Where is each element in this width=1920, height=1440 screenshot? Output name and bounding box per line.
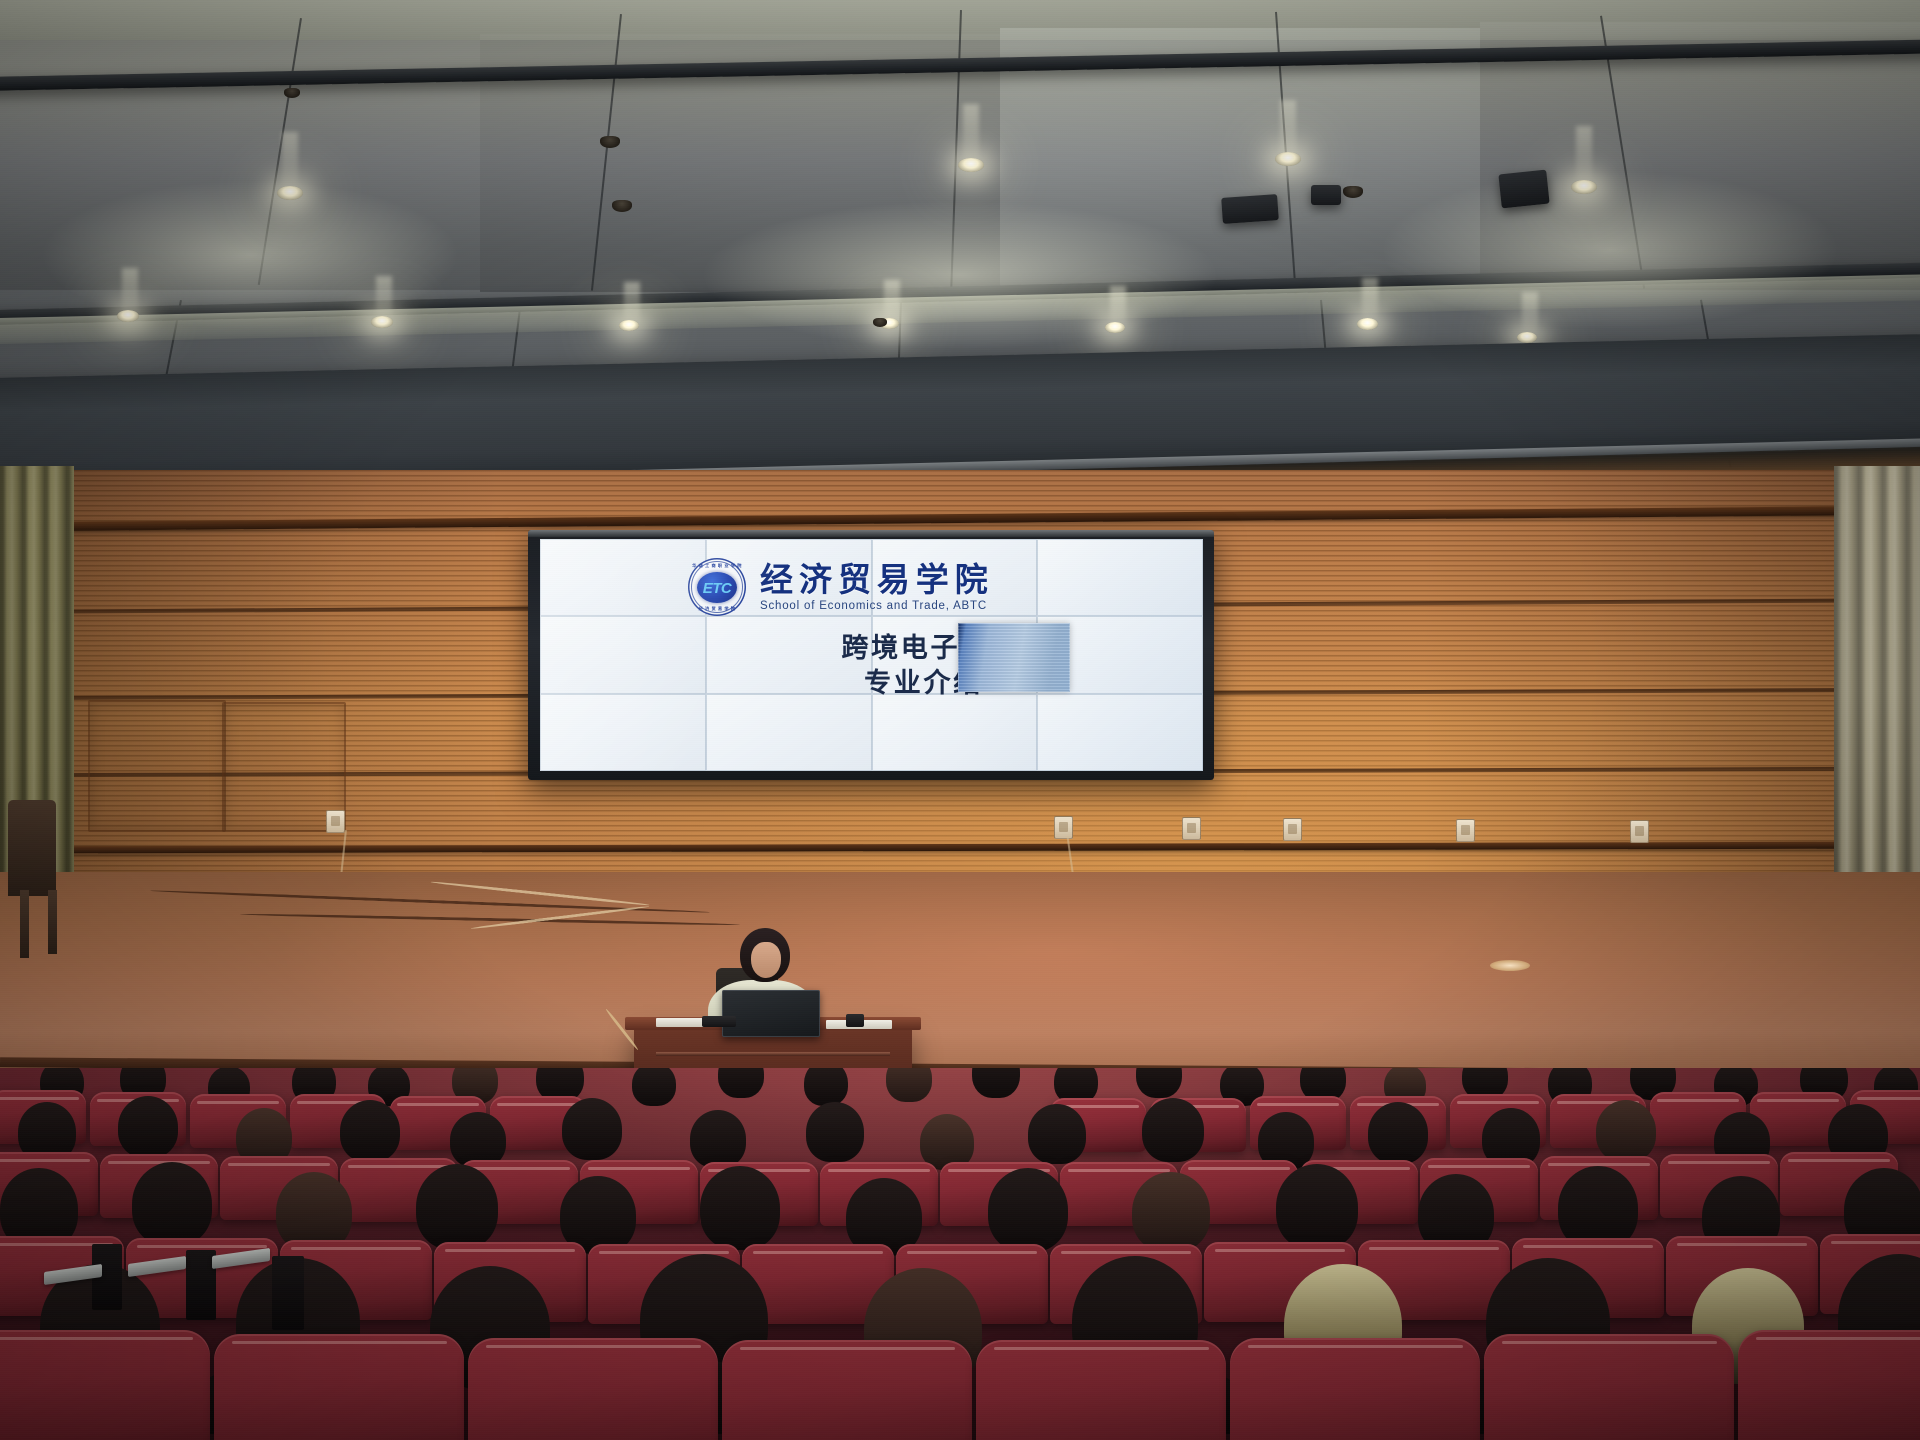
wall-outlet-icon: [1182, 817, 1201, 840]
sprinkler-head-icon: [612, 200, 632, 212]
video-wall-screen: 华 商 工 商 职 业 学 院 经 济 贸 易 学 院 ETC 经济贸易学院 S…: [528, 530, 1214, 780]
ceiling-downlight-icon: [1517, 332, 1537, 343]
audience-head: [886, 1068, 932, 1102]
audience-head: [690, 1110, 746, 1168]
ceiling-downlight-icon: [1357, 318, 1378, 330]
audience-head: [804, 1068, 848, 1106]
audience-head: [806, 1102, 864, 1162]
ceiling-downlight-icon: [117, 310, 139, 322]
auditorium-seat-foreground: [1230, 1338, 1480, 1440]
audience-head: [132, 1162, 212, 1246]
wall-outlet-icon: [1054, 816, 1073, 839]
ceiling-downlight-icon: [371, 316, 393, 328]
stage-side-chair-leg: [20, 890, 29, 958]
seat-armrest: [272, 1256, 304, 1330]
audience-head: [416, 1164, 498, 1250]
sprinkler-head-icon: [1343, 186, 1363, 198]
screen-top-bezel: [528, 530, 1214, 537]
lectern-paper: [656, 1018, 708, 1027]
audience-head: [700, 1166, 780, 1250]
audience-head: [632, 1068, 676, 1106]
ceiling-speaker-icon: [1311, 185, 1341, 205]
ceiling-speaker-icon: [1498, 170, 1549, 209]
ceiling-downlight-icon: [619, 320, 639, 331]
audience-head: [1596, 1100, 1656, 1162]
audience-head: [1368, 1102, 1428, 1164]
audience-seating: [0, 1068, 1920, 1440]
audience-head: [1132, 1172, 1210, 1252]
sprinkler-head-icon: [284, 88, 300, 98]
auditorium-photo: 华 商 工 商 职 业 学 院 经 济 贸 易 学 院 ETC 经济贸易学院 S…: [0, 0, 1920, 1440]
sprinkler-head-icon: [600, 136, 620, 148]
ceiling-speaker-icon: [1221, 194, 1279, 224]
ceiling-downlight-icon: [1571, 180, 1597, 194]
auditorium-seat-foreground: [0, 1330, 210, 1440]
wall-outlet-icon: [326, 810, 345, 833]
light-beam: [1522, 292, 1538, 336]
auditorium-seat-foreground: [722, 1340, 972, 1440]
audience-head: [118, 1096, 178, 1158]
audience-head: [340, 1100, 400, 1162]
wall-outlet-icon: [1456, 819, 1475, 842]
sprinkler-head-icon: [873, 318, 887, 327]
ceiling-downlight-icon: [1275, 152, 1301, 166]
screen-display-area: 华 商 工 商 职 业 学 院 经 济 贸 易 学 院 ETC 经济贸易学院 S…: [540, 539, 1203, 771]
screen-glare: [540, 539, 1203, 771]
audience-head: [1028, 1104, 1086, 1164]
auditorium-seat-foreground: [1738, 1330, 1920, 1440]
audience-head: [1276, 1164, 1358, 1250]
audience-head: [988, 1168, 1068, 1252]
ceiling-downlight-icon: [958, 158, 984, 172]
wall-outlet-icon: [1283, 818, 1302, 841]
lectern-device: [846, 1014, 864, 1027]
laptop-icon: [722, 990, 820, 1037]
lectern-trim: [656, 1052, 890, 1056]
auditorium-seat-foreground: [1484, 1334, 1734, 1440]
audience-head: [562, 1098, 622, 1160]
wall-access-panel: [88, 700, 226, 832]
ceiling-downlight-icon: [1105, 322, 1125, 333]
stage-side-chair: [8, 800, 56, 896]
auditorium-seat-foreground: [468, 1338, 718, 1440]
stage-side-chair-leg: [48, 890, 57, 954]
stage-floor-light: [1490, 960, 1530, 971]
wall-outlet-icon: [1630, 820, 1649, 843]
lectern-device: [702, 1016, 736, 1027]
auditorium-seat-foreground: [214, 1334, 464, 1440]
stage-floor: [0, 872, 1920, 1072]
light-beam: [1362, 278, 1378, 324]
presenter-face: [751, 942, 781, 978]
audience-head: [1142, 1098, 1204, 1162]
ceiling-downlight-icon: [277, 186, 303, 200]
auditorium-seat-foreground: [976, 1340, 1226, 1440]
